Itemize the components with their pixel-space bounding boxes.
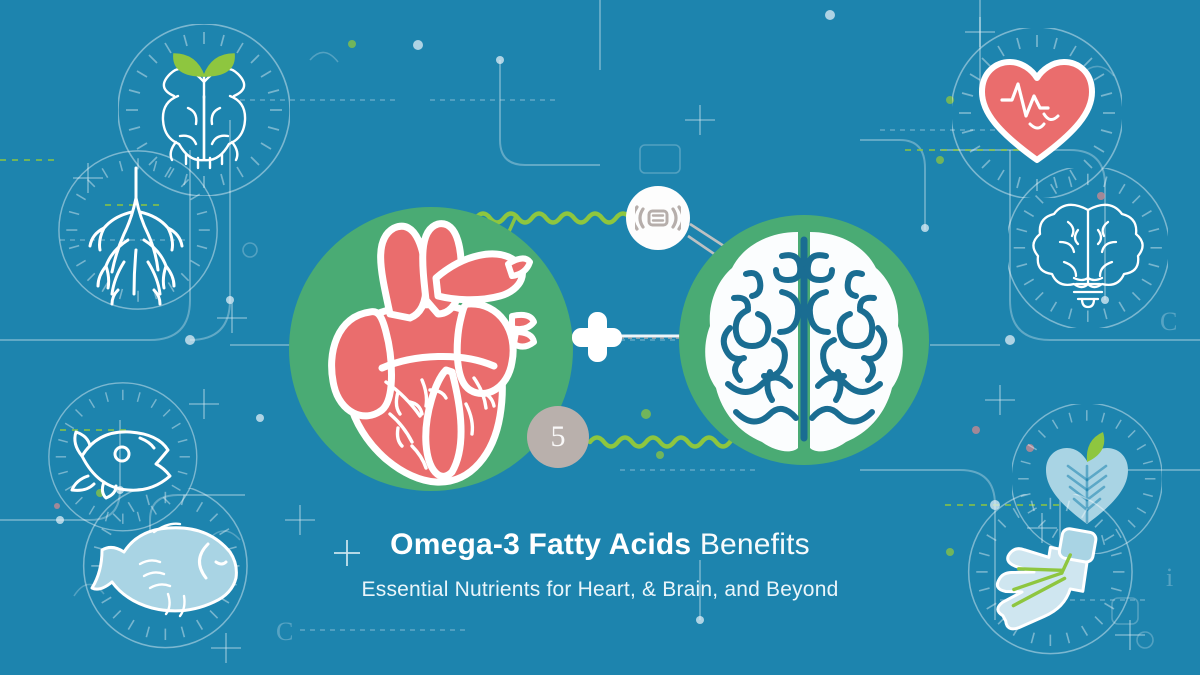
step-badge[interactable]: 5 (527, 406, 589, 468)
link-chain-icon (635, 203, 681, 233)
brain-illustration (705, 232, 903, 451)
step-badge-label: 5 (551, 422, 566, 452)
infographic-canvas: C C i (0, 0, 1200, 675)
plus-bar-vertical (588, 312, 607, 362)
link-badge[interactable] (626, 186, 690, 250)
plus-operator-icon (572, 312, 622, 362)
title-plus-marker (334, 540, 360, 566)
brain-feature-group (678, 214, 930, 466)
